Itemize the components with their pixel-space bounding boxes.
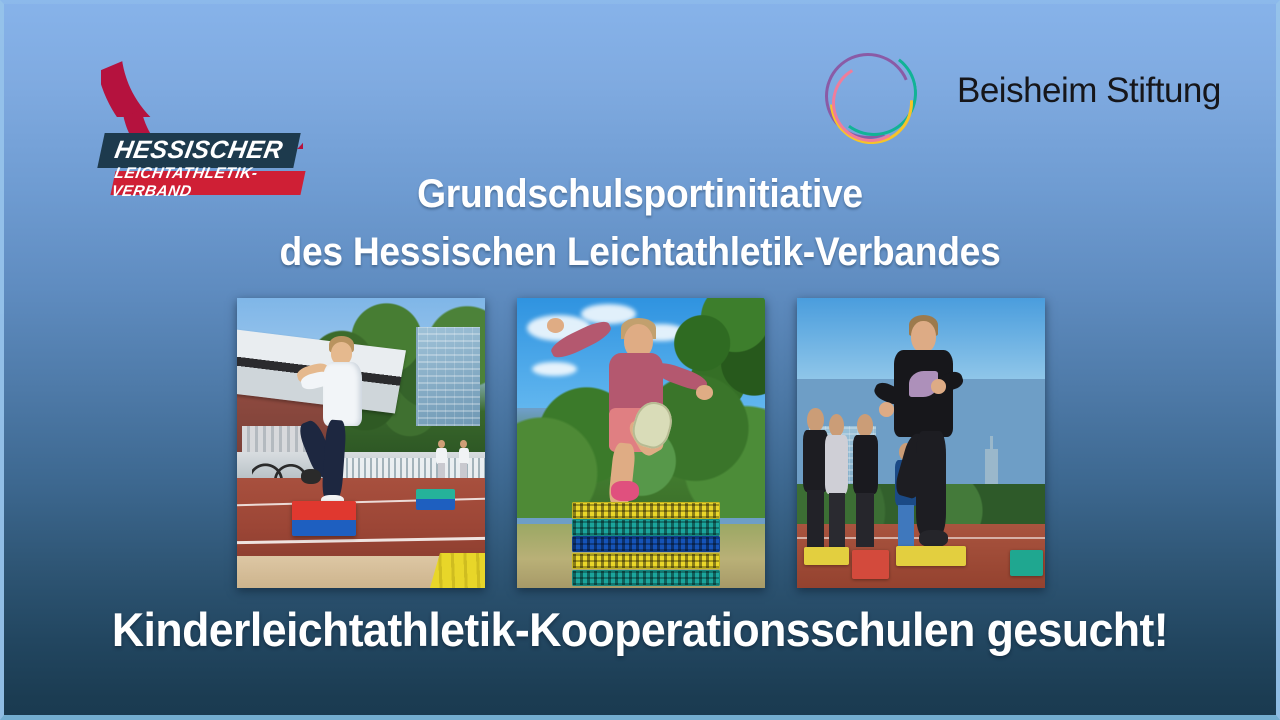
photo3-block-yellow (896, 546, 965, 566)
photo2-block-yellow (572, 502, 721, 518)
presentation-slide: HESSISCHER LEICHTATHLETIK-VERBAND Beishe… (0, 0, 1280, 720)
photo3-child-watching (852, 414, 879, 547)
photo3-block-red (852, 550, 889, 579)
hlv-banner-hessischer-label: HESSISCHER (113, 136, 286, 165)
photo2-block-teal (572, 519, 721, 535)
photo3-athlete-hand (931, 379, 946, 394)
photo-girl-hopping-yellow-blocks (797, 298, 1045, 588)
photo1-spectator (458, 440, 470, 478)
photo1-red-blue-block (292, 501, 356, 536)
beisheim-stiftung-logo: Beisheim Stiftung (820, 46, 1200, 150)
photo-child-jumping-blocks-park (517, 298, 765, 588)
beisheim-stiftung-wordmark: Beisheim Stiftung (957, 71, 1221, 111)
photo3-block-green (1010, 550, 1042, 576)
page-title-line-1: Grundschulsportinitiative (45, 166, 1235, 224)
photo2-block-blue (572, 536, 721, 552)
page-title-line-2: des Hessischen Leichtathletik-Verbandes (45, 224, 1235, 282)
photo1-yellow-mat (430, 553, 485, 588)
photo-long-jump-track (237, 298, 485, 588)
photo3-athlete-shoe (919, 530, 949, 547)
photo1-spectator (435, 440, 447, 478)
photo3-athlete-leg (916, 431, 946, 535)
photo2-child-hand (696, 385, 713, 400)
hlv-banner-hessischer: HESSISCHER (97, 133, 300, 168)
photo1-office-building (416, 327, 480, 426)
hessischer-leichtathletik-verband-logo: HESSISCHER LEICHTATHLETIK-VERBAND (95, 25, 310, 185)
photo3-athlete-head (911, 321, 936, 353)
photo2-block-yellow (572, 553, 721, 569)
photo2-block-teal (572, 570, 721, 586)
photo3-block-yellow (804, 547, 849, 564)
photo1-athlete-shoe (301, 469, 321, 484)
photo1-athlete-torso (323, 362, 363, 426)
beisheim-ring-icon (820, 48, 924, 152)
photo3-child-watching (824, 414, 849, 547)
photo2-child-hand (547, 318, 564, 333)
page-title: Grundschulsportinitiative des Hessischen… (45, 166, 1235, 281)
photo3-athlete-hand (879, 402, 894, 417)
photo2-child-shoe (611, 481, 638, 501)
photo1-teal-block (416, 489, 456, 509)
headline-call-to-action: Kinderleichtathletik-Kooperationsschulen… (32, 602, 1248, 657)
